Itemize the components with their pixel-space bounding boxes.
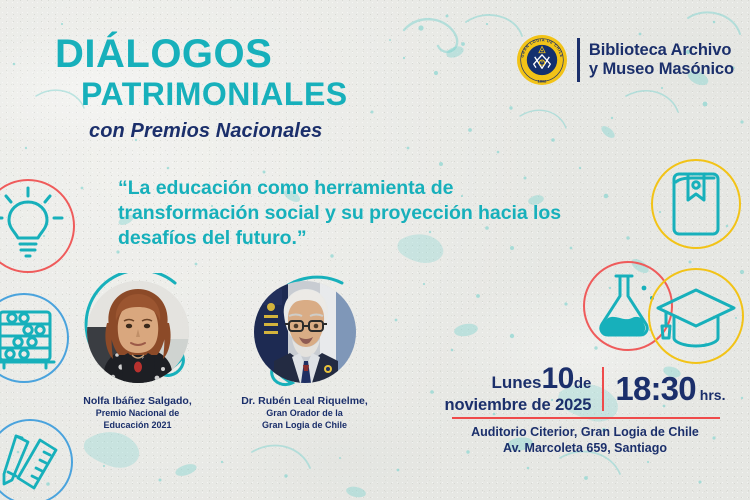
venue-line-1: Auditorio Citerior, Gran Logia de Chile xyxy=(432,424,738,440)
datetime-divider xyxy=(602,367,604,411)
speaker-card: Dr. Rubén Leal Riquelme, Gran Orador de … xyxy=(222,278,387,432)
brand-lockup: G GRAN LOGIA DE CHILE 1862 Biblioteca Ar… xyxy=(516,34,734,86)
gran-logia-seal-icon: G GRAN LOGIA DE CHILE 1862 xyxy=(516,34,568,86)
speaker-name: Nolfa Ibáñez Salgado, xyxy=(55,395,220,407)
svg-text:G: G xyxy=(540,60,543,64)
speaker-role-line-2: Gran Logia de Chile xyxy=(222,420,387,431)
poster: DIÁLOGOS PATRIMONIALES con Premios Nacio… xyxy=(0,0,750,500)
speaker-role-line-1: Gran Orador de la xyxy=(222,408,387,419)
speaker-card: Nolfa Ibáñez Salgado, Premio Nacional de… xyxy=(55,278,220,432)
event-day: 10 xyxy=(542,362,574,395)
title-line-2: PATRIMONIALES xyxy=(81,77,348,113)
event-weekday: Lunes xyxy=(491,373,541,392)
title-line-1: DIÁLOGOS xyxy=(55,34,348,75)
event-date: Lunes10de noviembre de 2025 xyxy=(445,364,592,414)
brand-divider xyxy=(577,38,580,82)
event-datetime: Lunes10de noviembre de 2025 18:30 hrs. xyxy=(432,364,738,414)
venue-separator-rule xyxy=(452,417,720,419)
speaker-role-line-1: Premio Nacional de xyxy=(55,408,220,419)
speaker-role-line-2: Educación 2021 xyxy=(55,420,220,431)
svg-text:1862: 1862 xyxy=(538,78,547,83)
title-subtitle: con Premios Nacionales xyxy=(89,120,348,143)
event-de-word: de xyxy=(574,375,592,392)
event-date-first-line: Lunes10de xyxy=(445,364,592,394)
event-venue: Auditorio Citerior, Gran Logia de Chile … xyxy=(432,424,738,457)
speaker-photo-wrap xyxy=(84,278,192,386)
speaker-name: Dr. Rubén Leal Riquelme, xyxy=(222,395,387,407)
event-time-block: 18:30 hrs. xyxy=(615,370,725,408)
event-month-year: noviembre de 2025 xyxy=(445,397,592,414)
speaker-photo-wrap xyxy=(251,278,359,386)
event-time: 18:30 xyxy=(615,370,695,408)
poster-title-block: DIÁLOGOS PATRIMONIALES con Premios Nacio… xyxy=(55,34,348,143)
brand-line-1: Biblioteca Archivo xyxy=(589,41,734,60)
graduation-cap-icon xyxy=(642,262,750,370)
event-quote: “La educación como herramienta de transf… xyxy=(118,176,588,251)
speaker-portrait xyxy=(254,281,356,383)
event-time-unit: hrs. xyxy=(700,387,726,403)
brand-name: Biblioteca Archivo y Museo Masónico xyxy=(589,41,734,79)
book-bookmark-icon xyxy=(644,152,748,256)
brand-line-2: y Museo Masónico xyxy=(589,60,734,79)
speaker-portrait xyxy=(87,281,189,383)
venue-line-2: Av. Marcoleta 659, Santiago xyxy=(432,440,738,456)
